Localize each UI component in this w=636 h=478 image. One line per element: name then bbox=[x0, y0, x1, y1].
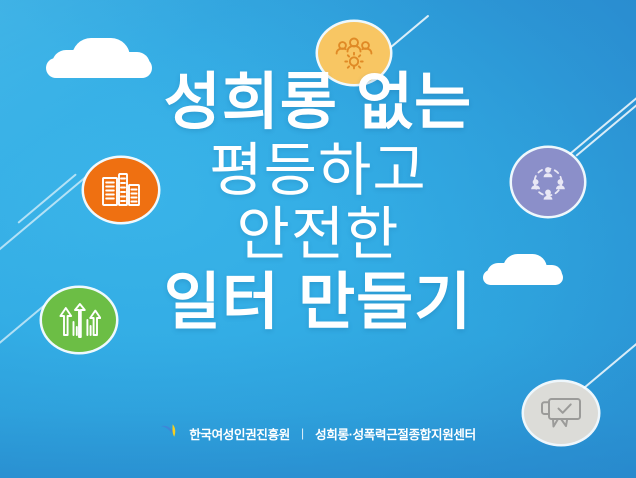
footer-center-name: 성희롱·성폭력근절종합지원센터 bbox=[315, 424, 476, 443]
footer-separator: | bbox=[301, 426, 304, 440]
footer: 한국여성인권진흥원 | 성희롱·성폭력근절종합지원센터 bbox=[0, 422, 636, 444]
headline-line-1: 성희롱 없는 bbox=[0, 72, 636, 134]
headline-line-2: 평등하고 bbox=[0, 142, 636, 200]
swoosh-logo-icon bbox=[160, 422, 182, 444]
poster-canvas: 성희롱 없는 평등하고 안전한 일터 만들기 한국여성인권진흥원 | 성희롱·성… bbox=[0, 0, 636, 478]
headline-line-4: 일터 만들기 bbox=[0, 272, 636, 334]
headline-line-3: 안전한 bbox=[0, 206, 636, 264]
footer-organization-name: 한국여성인권진흥원 bbox=[189, 424, 290, 443]
headline: 성희롱 없는 평등하고 안전한 일터 만들기 bbox=[0, 72, 636, 334]
people-gear-icon bbox=[334, 35, 374, 71]
